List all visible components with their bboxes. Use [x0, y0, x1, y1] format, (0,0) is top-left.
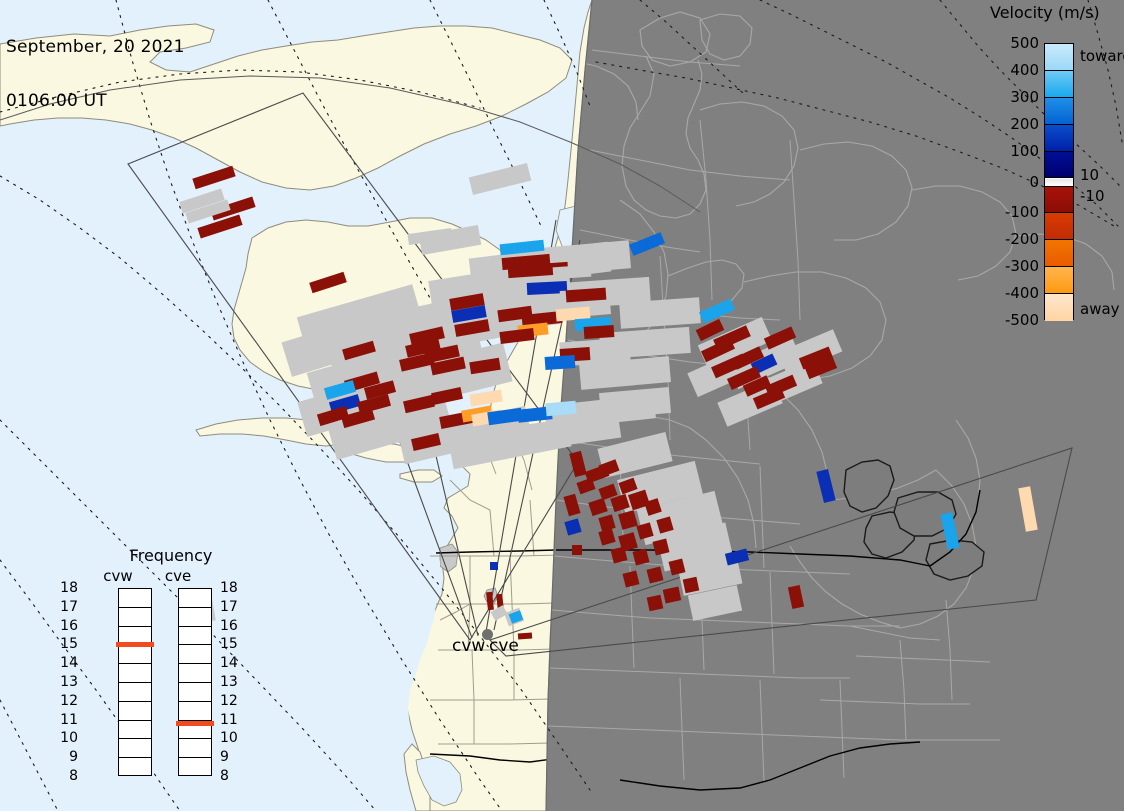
frequency-tick-label: 10	[220, 730, 238, 746]
colorbar-strip	[1044, 43, 1074, 320]
timestamp: September, 20 2021 0106:00 UT	[6, 2, 185, 146]
velocity-cell	[683, 577, 700, 594]
colorbar-segment	[1045, 179, 1073, 187]
colorbar-segment	[1045, 240, 1073, 267]
frequency-scale-cell	[179, 739, 211, 758]
frequency-marker-cvw	[116, 642, 154, 647]
colorbar-tick-label: 400	[1010, 61, 1039, 79]
frequency-scale-box	[118, 588, 152, 776]
frequency-tick-label: 17	[60, 599, 78, 615]
frequency-scale-cell	[179, 683, 211, 702]
frequency-tick-label: 14	[220, 655, 238, 671]
colorbar-plus-ten-label: 10	[1080, 166, 1099, 184]
frequency-tick-label: 17	[220, 599, 238, 615]
colorbar-tick-label: 500	[1010, 34, 1039, 52]
frequency-tick-label: 14	[60, 655, 78, 671]
colorbar-tick-label: -500	[1005, 311, 1039, 329]
frequency-tick-label: 18	[220, 580, 238, 596]
radar-site-marker	[482, 629, 493, 640]
velocity-cell	[545, 355, 576, 370]
frequency-tick-label: 12	[220, 693, 238, 709]
ground-scatter-patch	[619, 297, 701, 329]
velocity-cell	[490, 562, 498, 570]
colorbar-tick-label: -300	[1005, 257, 1039, 275]
colorbar-tick-label: -400	[1005, 284, 1039, 302]
frequency-scale-cell	[179, 608, 211, 627]
frequency-column-header: cvw	[103, 567, 132, 585]
frequency-scale-cell	[179, 627, 211, 646]
velocity-colorbar: Velocity (m/s) 5004003002001000-100-200-…	[985, 0, 1124, 340]
velocity-cell	[647, 595, 664, 612]
radar-site-label-cvw: cvw	[452, 636, 485, 656]
frequency-scale-cell	[119, 589, 151, 608]
colorbar-segment	[1045, 152, 1073, 179]
frequency-scale-cell	[179, 645, 211, 664]
frequency-tick-label: 11	[220, 712, 238, 728]
frequency-tick-label: 16	[60, 618, 78, 634]
colorbar-segment	[1045, 98, 1073, 125]
velocity-cell	[518, 633, 532, 640]
frequency-tick-label: 13	[60, 674, 78, 690]
frequency-scale-cell	[119, 721, 151, 740]
frequency-tick-label: 18	[60, 580, 78, 596]
frequency-tick-label: 10	[60, 730, 78, 746]
frequency-scale-cell	[179, 664, 211, 683]
frequency-column-header: cve	[165, 567, 191, 585]
frequency-tick-label: 9	[220, 749, 229, 765]
colorbar-minus-ten-label: -10	[1080, 187, 1105, 205]
frequency-tick-label: 9	[69, 749, 78, 765]
colorbar-toward-label: toward	[1080, 47, 1124, 65]
frequency-tick-label: 16	[220, 618, 238, 634]
colorbar-segment	[1045, 267, 1073, 294]
colorbar-title: Velocity (m/s)	[990, 3, 1124, 22]
colorbar-segment	[1045, 294, 1073, 321]
frequency-tick-label: 13	[220, 674, 238, 690]
colorbar-tick-label: 100	[1010, 142, 1039, 160]
frequency-scale-cell	[119, 758, 151, 777]
colorbar-segment	[1045, 71, 1073, 98]
colorbar-tick-label: -200	[1005, 230, 1039, 248]
colorbar-tick-label: 200	[1010, 115, 1039, 133]
radar-site-label-cve: cve	[489, 636, 519, 656]
frequency-tick-label: 15	[220, 636, 238, 652]
frequency-tick-label: 8	[220, 768, 229, 784]
colorbar-tick-label: 300	[1010, 88, 1039, 106]
frequency-scale-cell	[179, 702, 211, 721]
superdarn-velocity-map: September, 20 2021 0106:00 UT Velocity (…	[0, 0, 1124, 811]
colorbar-tick-label: 0	[1029, 173, 1039, 191]
frequency-scale-cell	[119, 702, 151, 721]
frequency-scale-cell	[119, 664, 151, 683]
frequency-legend-title: Frequency	[111, 546, 231, 565]
velocity-cell	[545, 401, 576, 417]
timestamp-time: 0106:00 UT	[6, 92, 185, 110]
frequency-tick-label: 8	[69, 768, 78, 784]
frequency-legend: Frequency cvw18171615141312111098cve1817…	[96, 546, 246, 786]
colorbar-segment	[1045, 187, 1073, 214]
frequency-scale-cell	[119, 645, 151, 664]
colorbar-segment	[1045, 125, 1073, 152]
frequency-scale-cell	[119, 739, 151, 758]
velocity-cell	[584, 325, 615, 339]
frequency-marker-cve	[176, 721, 214, 726]
frequency-scale-cell	[119, 608, 151, 627]
colorbar-tick-label: -100	[1005, 203, 1039, 221]
frequency-scale-cell	[119, 683, 151, 702]
colorbar-segment	[1045, 213, 1073, 240]
colorbar-away-label: away	[1080, 300, 1120, 318]
timestamp-date: September, 20 2021	[6, 38, 185, 56]
frequency-tick-label: 12	[60, 693, 78, 709]
frequency-scale-cell	[179, 589, 211, 608]
colorbar-segment	[1045, 44, 1073, 71]
frequency-scale-cell	[179, 758, 211, 777]
frequency-tick-label: 15	[60, 636, 78, 652]
frequency-scale-box	[178, 588, 212, 776]
velocity-cell	[572, 545, 582, 555]
frequency-tick-label: 11	[60, 712, 78, 728]
